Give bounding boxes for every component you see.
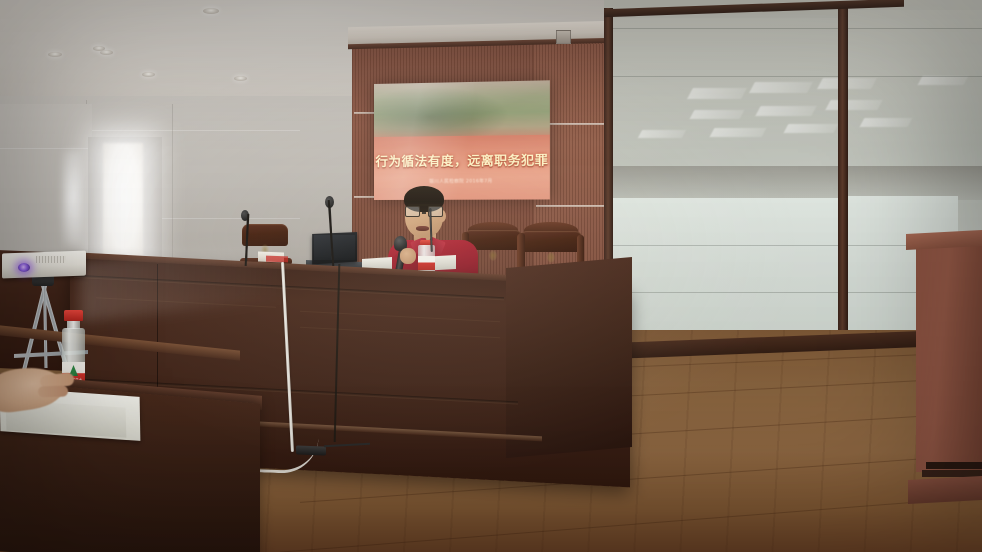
- glass-divider-line: [612, 28, 982, 29]
- glasses-lens-left: [405, 206, 420, 217]
- glass-reflection-dark-band: [612, 166, 982, 200]
- wall-control-box: [556, 30, 571, 44]
- projector: [2, 251, 86, 279]
- ceiling-downlight: [93, 46, 105, 51]
- photo-scene: 行为循法有度，远离职务犯罪 银川人民检察院 2016年7月: [0, 0, 982, 552]
- window-glow: [62, 150, 84, 245]
- ceiling-downlight: [203, 8, 219, 14]
- reflected-light-panel: [687, 88, 747, 99]
- screen-glare: [374, 80, 484, 200]
- glass-divider-line: [612, 292, 958, 293]
- reflected-light-panel: [690, 110, 745, 119]
- reflected-light-panel: [749, 82, 813, 93]
- glasses-icon: [405, 206, 443, 216]
- frosted-glass-panel: [612, 198, 840, 338]
- reflected-light-panel: [638, 130, 686, 138]
- projector-vents: [36, 256, 66, 263]
- reflected-light-panel: [710, 128, 767, 137]
- ceiling-downlight: [48, 52, 62, 57]
- pillar-plinth: [908, 476, 982, 504]
- ceiling-downlight: [234, 76, 247, 81]
- bright-doorway: [103, 143, 143, 263]
- bottle-label: [418, 256, 435, 270]
- speaker-hand: [400, 248, 416, 264]
- rostrum-seam: [157, 264, 158, 404]
- ceiling-downlight: [100, 50, 113, 55]
- red-folder: [266, 256, 288, 263]
- projection-screen: 行为循法有度，远离职务犯罪 银川人民检察院 2016年7月: [374, 80, 550, 200]
- wooden-pillar: [916, 240, 982, 472]
- glass-divider-line: [612, 76, 982, 77]
- panel-strip: [536, 205, 610, 207]
- power-adapter: [296, 445, 326, 455]
- ceiling-downlight: [142, 72, 155, 77]
- reflected-light-panel: [860, 118, 913, 127]
- window-mullion: [838, 4, 848, 358]
- wall-seam: [0, 148, 92, 149]
- viewer-finger: [38, 385, 68, 397]
- laptop-display: [314, 235, 355, 260]
- bottle-cap: [64, 310, 83, 321]
- reflected-light-panel: [918, 76, 969, 85]
- wall-seam: [172, 104, 173, 269]
- reflected-light-panel: [755, 106, 816, 116]
- glasses-bridge: [422, 212, 426, 213]
- pillar-base-trim: [926, 462, 982, 469]
- reflected-light-panel: [784, 124, 839, 133]
- rostrum-right-return: [506, 257, 632, 458]
- projector-lens: [18, 263, 30, 272]
- bottle-neck: [67, 320, 80, 329]
- speaker-mouth: [416, 226, 429, 231]
- reflected-light-panel: [825, 100, 882, 110]
